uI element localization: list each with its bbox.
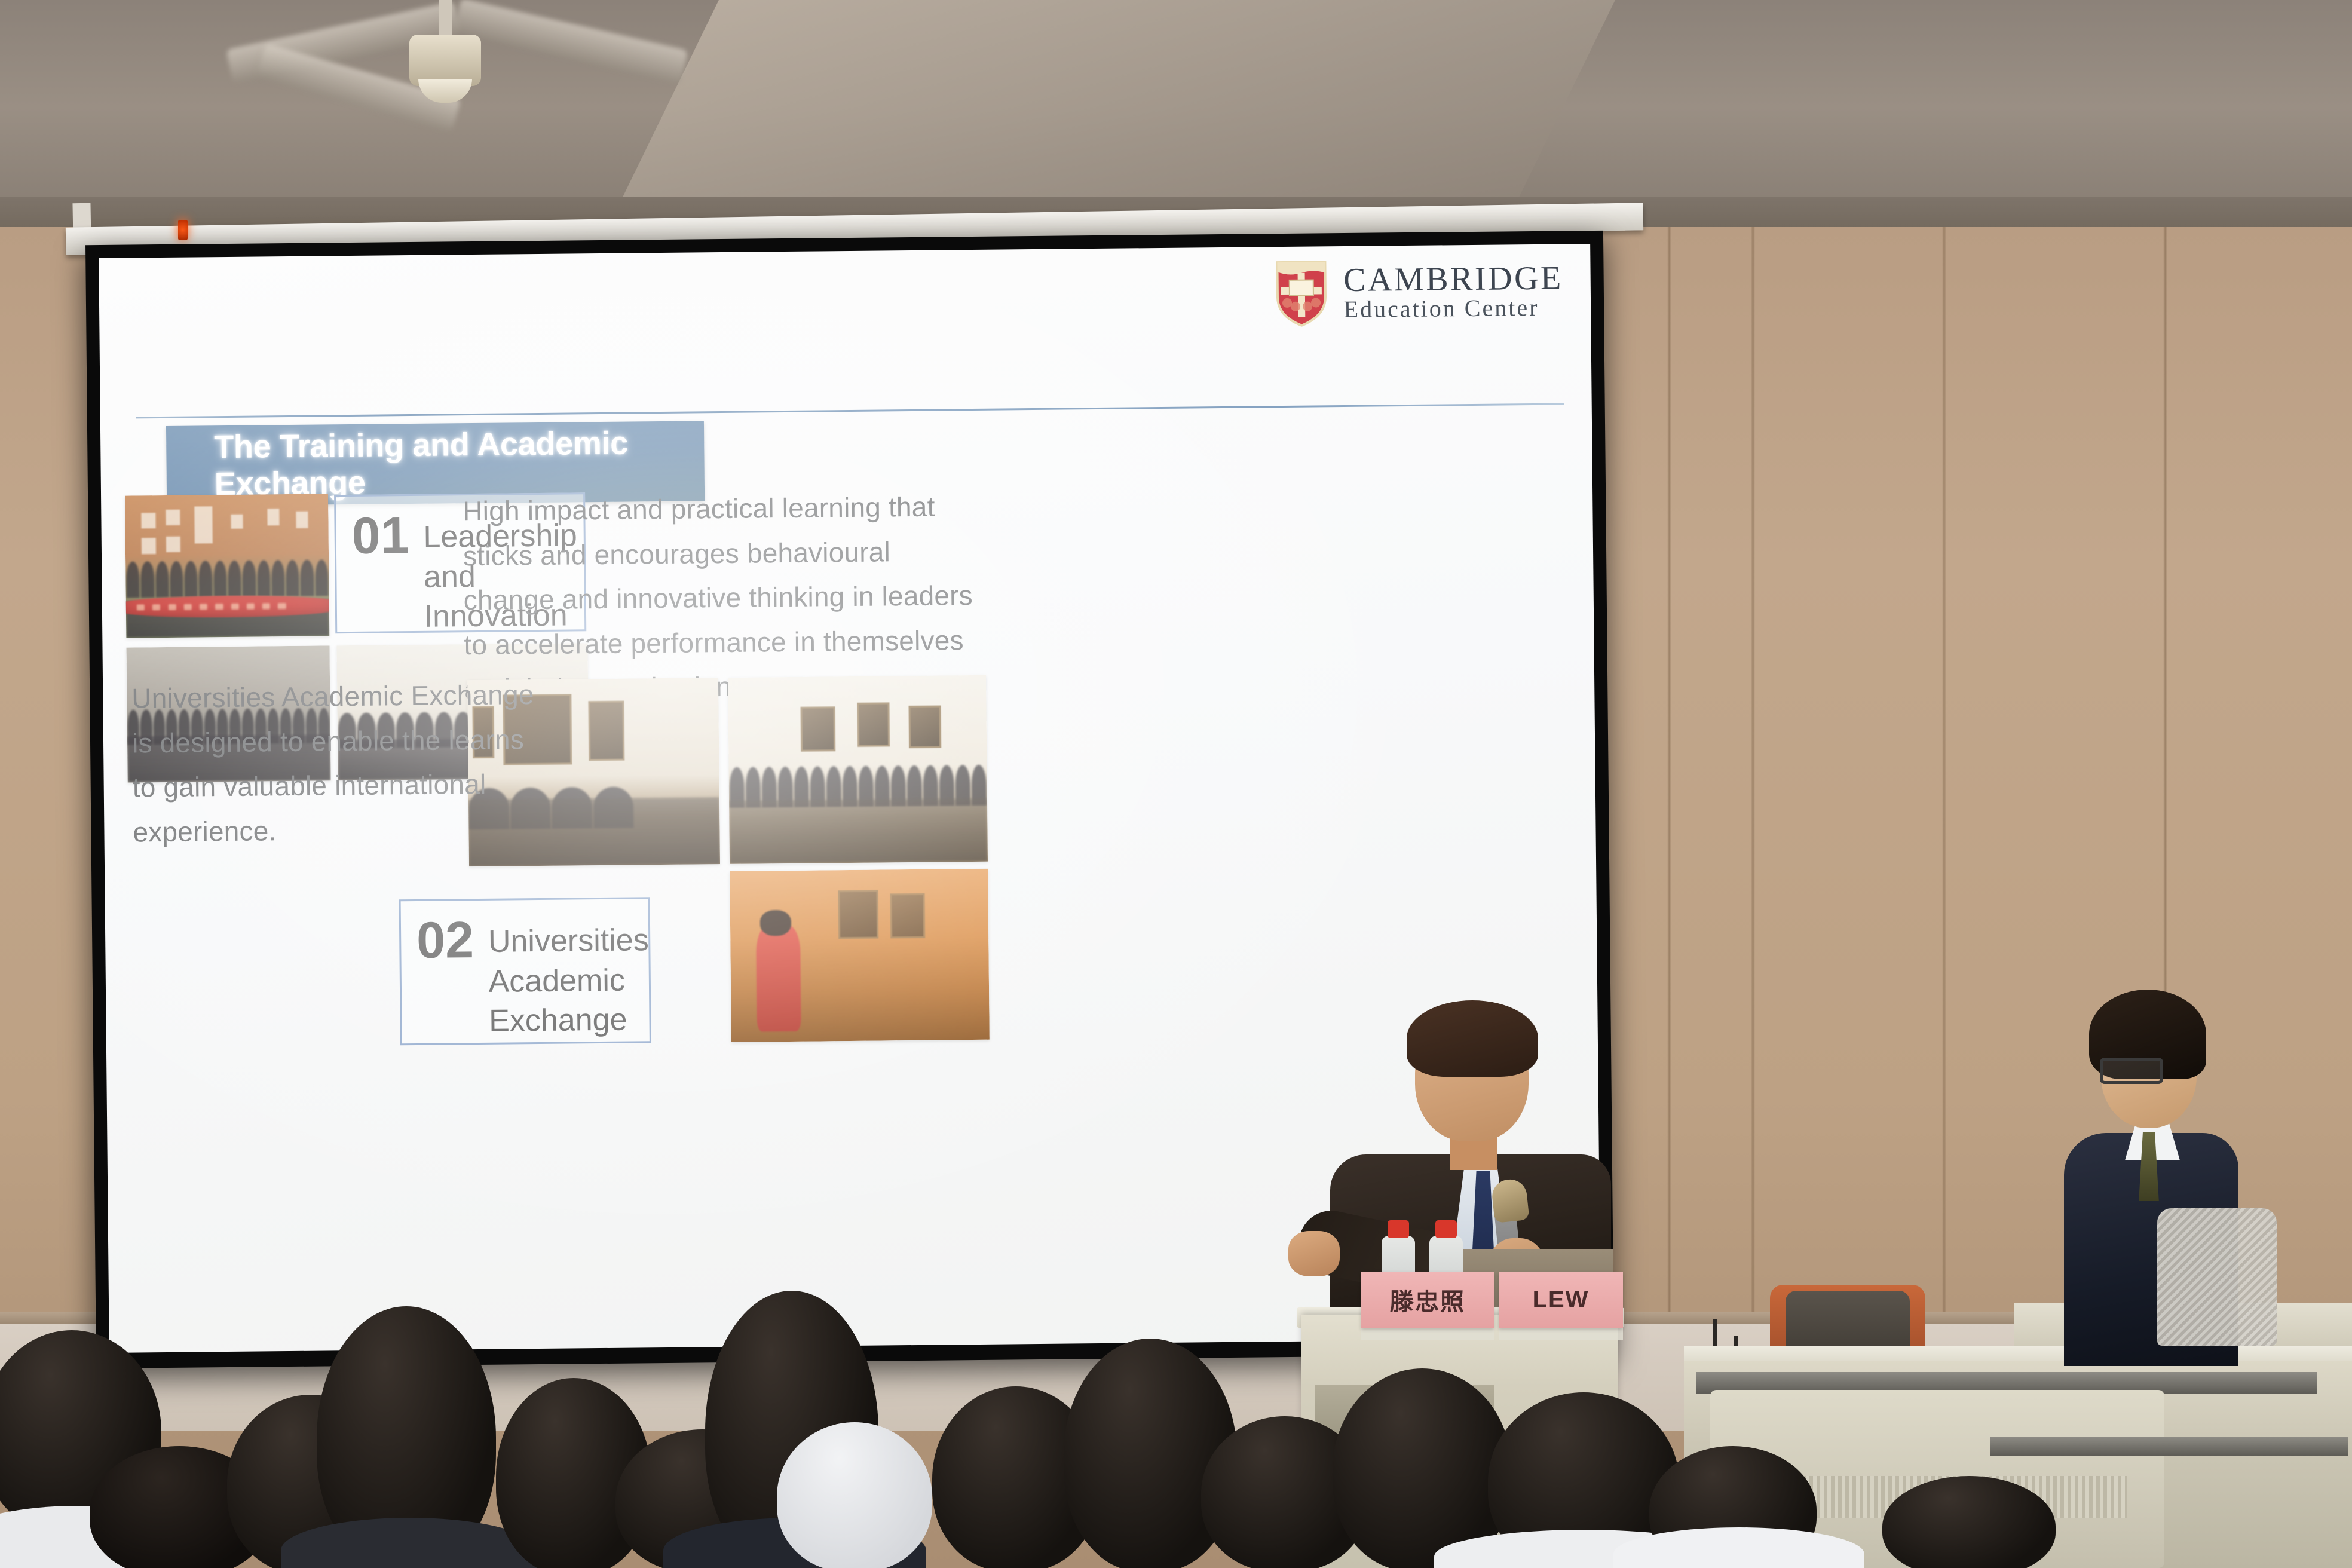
- glasses-icon: [2100, 1058, 2163, 1084]
- status-led-icon: [178, 220, 188, 240]
- wall-seam: [1667, 227, 1671, 1422]
- nameplate-base: [1361, 1328, 1494, 1340]
- speaker-hand: [1288, 1231, 1340, 1276]
- audience-shoulders-white-shirt: [777, 1422, 932, 1568]
- nameplate-text: 滕忠照: [1390, 1282, 1465, 1317]
- logo-line-1: CAMBRIDGE: [1343, 262, 1563, 298]
- nameplate-english: LEW: [1499, 1272, 1623, 1328]
- lecture-hall-scene: CAMBRIDGE Education Center The Training …: [0, 0, 2352, 1568]
- photo-large-group-panelled-hall: [728, 675, 988, 864]
- photo-yeoman-warder-hall: [730, 869, 990, 1042]
- topic-number: 02: [416, 916, 474, 966]
- cambridge-shield-crest-icon: [1275, 259, 1328, 327]
- paragraph-left: Universities Academic Exchange is design…: [131, 672, 552, 855]
- nameplate-text: LEW: [1533, 1287, 1590, 1313]
- wall-seam: [1751, 227, 1755, 1422]
- nameplate-chinese: 滕忠照: [1361, 1272, 1494, 1328]
- header-divider: [136, 403, 1564, 418]
- topic-label: Universities Academic Exchange: [488, 914, 650, 1041]
- speaker-hair: [1407, 1000, 1538, 1077]
- logo-line-2: Education Center: [1343, 296, 1563, 322]
- mesh-chair: [2157, 1208, 2277, 1346]
- av-desk-rail: [1990, 1437, 2348, 1456]
- red-coat-figure: [756, 925, 801, 1031]
- topic-box-02[interactable]: 02 Universities Academic Exchange: [399, 897, 651, 1045]
- red-coat-figure-head: [759, 910, 791, 936]
- ceiling-panel: [608, 0, 1627, 227]
- wall-seam: [1942, 227, 1946, 1422]
- topic-number: 01: [351, 512, 409, 561]
- photo-group-red-brick-banner: [125, 494, 329, 638]
- nameplate-base: [1499, 1328, 1623, 1340]
- cambridge-logo: CAMBRIDGE Education Center: [1275, 258, 1564, 327]
- red-banner: [125, 595, 329, 618]
